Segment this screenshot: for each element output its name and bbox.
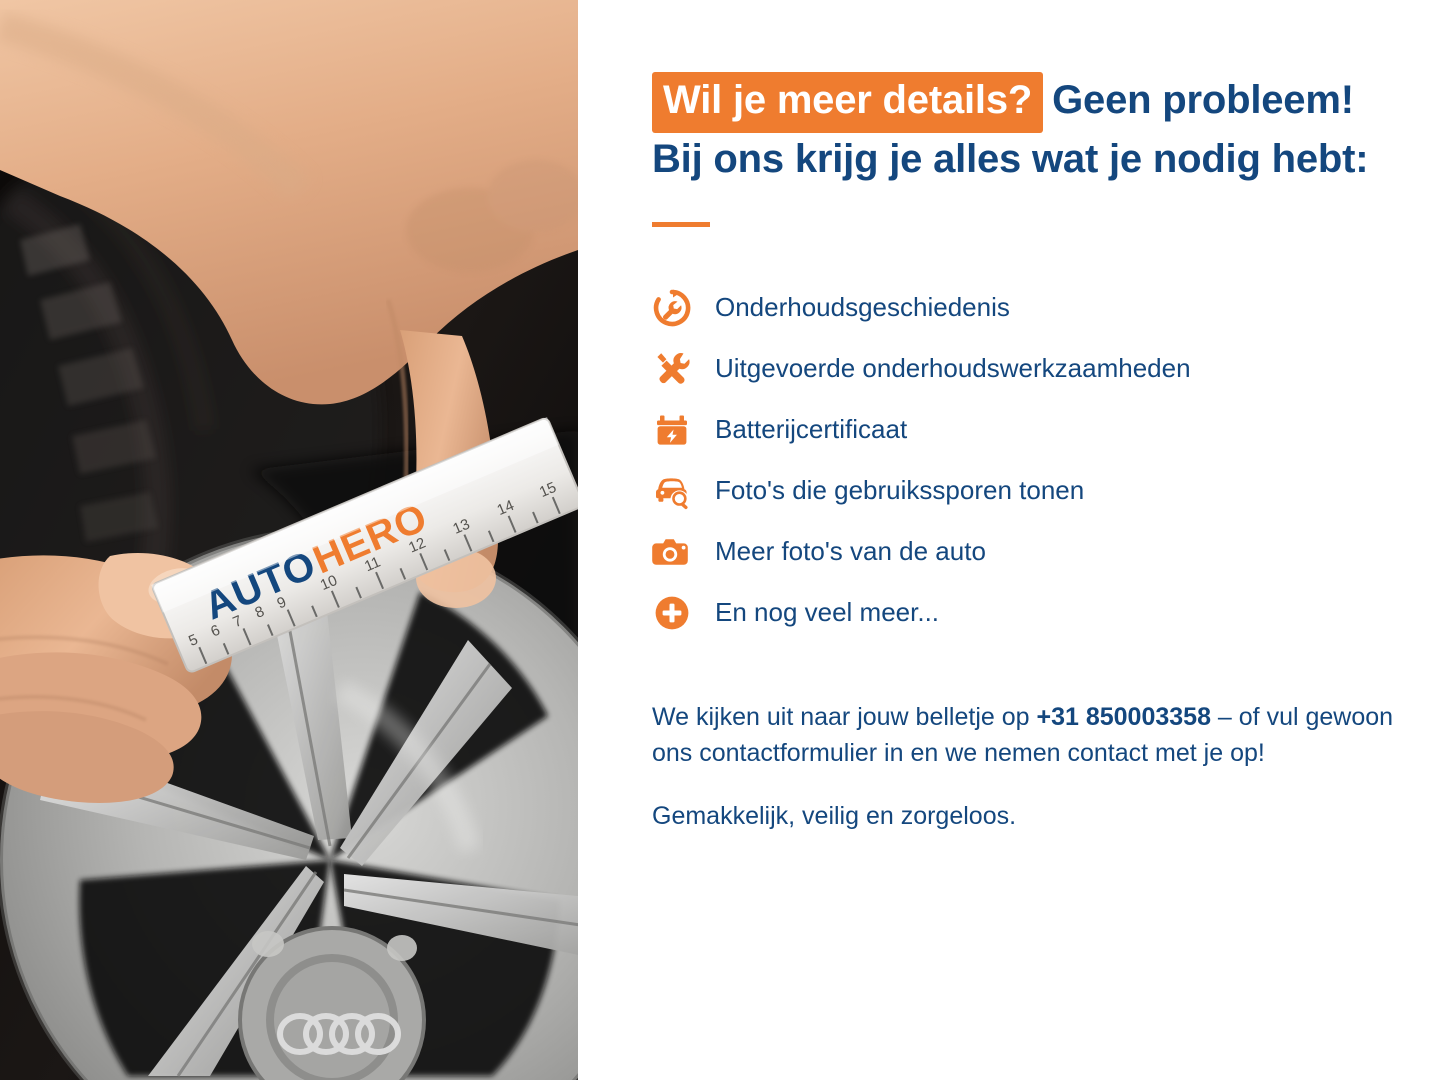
phone-number[interactable]: +31 850003358 xyxy=(1036,703,1211,731)
feature-label: Uitgevoerde onderhoudswerkzaamheden xyxy=(696,353,1191,384)
feature-label: Foto's die gebruikssporen tonen xyxy=(696,475,1084,506)
headline-highlight: Wil je meer details? xyxy=(652,72,1043,133)
headline-rest: Geen probleem! xyxy=(1052,78,1354,122)
feature-item-maintenance-work: Uitgevoerde onderhoudswerkzaamheden xyxy=(652,338,1412,399)
maintenance-history-icon xyxy=(652,287,696,329)
hero-photo: AUTO HERO xyxy=(0,0,578,1080)
feature-item-maintenance-history: Onderhoudsgeschiedenis xyxy=(652,277,1412,338)
feature-list: Onderhoudsgeschiedenis Uitgevoerde onder… xyxy=(652,277,1412,643)
content-panel: Wil je meer details?Geen probleem! Bij o… xyxy=(578,0,1440,1080)
autohero-promo-banner: AUTO HERO xyxy=(0,0,1440,1080)
feature-item-much-more: En nog veel meer... xyxy=(652,582,1412,643)
contact-paragraph: We kijken uit naar jouw belletje op +31 … xyxy=(652,700,1397,771)
camera-icon xyxy=(652,531,696,573)
body-copy: We kijken uit naar jouw belletje op +31 … xyxy=(652,700,1397,835)
car-inspection-icon xyxy=(652,470,696,512)
feature-label: Batterijcertificaat xyxy=(696,414,907,445)
headline-line-2: Bij ons krijg je alles wat je nodig hebt… xyxy=(652,133,1392,187)
tools-icon xyxy=(652,348,696,390)
feature-item-more-photos: Meer foto's van de auto xyxy=(652,521,1412,582)
feature-label: Onderhoudsgeschiedenis xyxy=(696,292,1010,323)
feature-label: Meer foto's van de auto xyxy=(696,536,986,567)
headline-line-1: Wil je meer details?Geen probleem! xyxy=(652,72,1392,133)
orange-divider xyxy=(652,222,710,227)
feature-label: En nog veel meer... xyxy=(696,597,939,628)
feature-item-wear-photos: Foto's die gebruikssporen tonen xyxy=(652,460,1412,521)
reassurance-paragraph: Gemakkelijk, veilig en zorgeloos. xyxy=(652,799,1397,835)
feature-item-battery-certificate: Batterijcertificaat xyxy=(652,399,1412,460)
wheel-measurement-photo: AUTO HERO xyxy=(0,0,578,1080)
battery-icon xyxy=(652,409,696,451)
headline: Wil je meer details?Geen probleem! Bij o… xyxy=(652,72,1392,186)
contact-text-before: We kijken uit naar jouw belletje op xyxy=(652,703,1036,731)
plus-circle-icon xyxy=(652,592,696,634)
